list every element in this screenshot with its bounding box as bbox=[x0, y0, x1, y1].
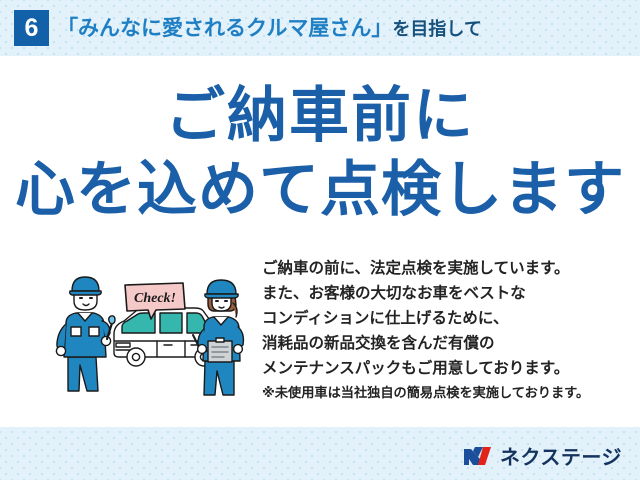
header-title-tail: を目指して bbox=[392, 19, 481, 39]
body-copy: ご納車の前に、法定点検を実施しています。 また、お客様の大切なお車をベストな コ… bbox=[262, 256, 622, 404]
header-title: 「みんなに愛されるクルマ屋さん」を目指して bbox=[57, 15, 482, 43]
brand-logo: ネクステージ bbox=[463, 441, 622, 470]
body-note: ※未使用車は当社独自の簡易点検を実施しております。 bbox=[262, 381, 622, 404]
promo-banner: 6 「みんなに愛されるクルマ屋さん」を目指して ご納車前に 心を込めて点検します… bbox=[0, 0, 640, 480]
headline-block: ご納車前に 心を込めて点検します bbox=[0, 86, 640, 220]
content-panel: ご納車前に 心を込めて点検します ご納車の前に、法定点検を実施しています。 また… bbox=[0, 56, 640, 427]
body-line: 消耗品の新品交換を含んだ有償の bbox=[262, 331, 622, 356]
body-line: コンディションに仕上げるために、 bbox=[262, 306, 622, 331]
male-mechanic-figure bbox=[56, 277, 115, 391]
header-bar: 6 「みんなに愛されるクルマ屋さん」を目指して bbox=[0, 0, 640, 56]
mechanics-illustration: Check! bbox=[52, 261, 257, 401]
section-number-badge: 6 bbox=[14, 10, 49, 46]
body-line: メンテナンスパックもご用意しております。 bbox=[262, 356, 622, 381]
female-mechanic-figure bbox=[193, 280, 243, 395]
headline-line-1: ご納車前に bbox=[0, 86, 640, 146]
brand-name: ネクステージ bbox=[500, 441, 622, 470]
speech-bubble-label: Check! bbox=[134, 291, 176, 306]
nexstage-n-mark bbox=[463, 445, 493, 467]
headline-line-2: 心を込めて点検します bbox=[0, 160, 640, 220]
body-line: ご納車の前に、法定点検を実施しています。 bbox=[262, 256, 622, 281]
body-line: また、お客様の大切なお車をベストな bbox=[262, 281, 622, 306]
header-title-quoted: 「みんなに愛されるクルマ屋さん」 bbox=[57, 17, 392, 40]
